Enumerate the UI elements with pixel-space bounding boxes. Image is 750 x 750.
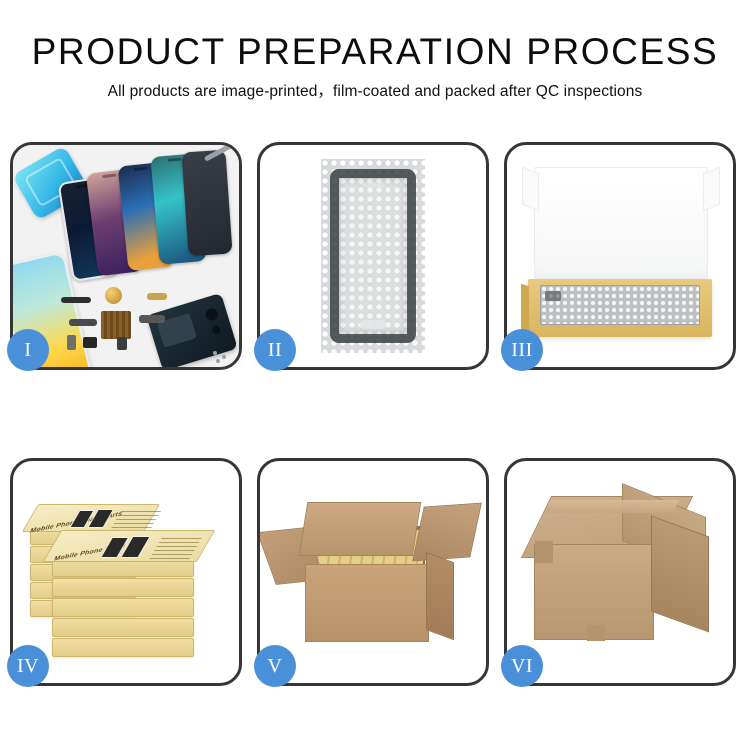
step-panel-3[interactable]: III xyxy=(504,142,736,370)
sealed-carton-group xyxy=(522,492,718,652)
step-badge-5: V xyxy=(254,645,296,687)
step-badge-2: II xyxy=(254,329,296,371)
step-badge-1: I xyxy=(7,329,49,371)
antenna-part-icon xyxy=(147,293,167,300)
step-badge-3: III xyxy=(501,329,543,371)
stacked-box xyxy=(52,638,194,657)
carton-flap-back xyxy=(299,502,422,556)
step-panel-6[interactable]: VI xyxy=(504,458,736,686)
sim-tray-part-icon xyxy=(67,335,76,350)
stacked-box-top: Mobile Phone Spare Parts xyxy=(22,504,160,532)
camera-part-icon xyxy=(83,337,97,348)
page-header: PRODUCT PREPARATION PROCESS All products… xyxy=(0,0,750,103)
home-button-icon xyxy=(360,320,386,329)
step-panel-2[interactable]: II xyxy=(257,142,489,370)
box-lid-icon xyxy=(534,167,708,287)
step-image-4: Mobile Phone Spare Parts Mobile Phone Sp… xyxy=(13,461,239,683)
step-badge-6: VI xyxy=(501,645,543,687)
page-subtitle: All products are image-printed，film-coat… xyxy=(0,81,750,103)
carton-seam-tab xyxy=(535,541,553,563)
packing-tape-icon xyxy=(545,500,679,513)
page-title: PRODUCT PREPARATION PROCESS xyxy=(0,30,750,74)
earpiece-icon xyxy=(362,183,384,187)
phone-notch-icon xyxy=(102,174,116,179)
connector-part-icon xyxy=(69,319,97,326)
stacked-box xyxy=(52,618,194,637)
box-tray-icon xyxy=(528,279,712,337)
phone-fan-group xyxy=(65,151,235,276)
chip-array-part-icon xyxy=(101,311,131,339)
carton-seam-tab xyxy=(587,625,605,641)
step-image-1 xyxy=(13,145,239,367)
open-carton-group xyxy=(273,486,473,658)
screen-glass-icon xyxy=(330,169,416,343)
carton-side-face xyxy=(426,552,454,640)
bubble-wrap-icon xyxy=(321,159,425,353)
carton-front-face xyxy=(305,564,429,642)
connector-part-icon xyxy=(139,315,165,323)
carton-front-face xyxy=(534,544,654,640)
step-panel-4[interactable]: Mobile Phone Spare Parts Mobile Phone Sp… xyxy=(10,458,242,686)
phone-icon-5 xyxy=(181,150,232,257)
carton-side-face xyxy=(651,515,709,632)
step-image-5 xyxy=(260,461,486,683)
carton-flap-right xyxy=(412,503,482,562)
wrapped-screen-icon xyxy=(540,285,700,325)
step-panel-5[interactable]: V xyxy=(257,458,489,686)
step-panel-1[interactable]: I xyxy=(10,142,242,370)
step-image-3 xyxy=(507,145,733,367)
spare-parts-group xyxy=(61,291,191,363)
open-box-group xyxy=(520,163,720,349)
battery-part-icon xyxy=(117,337,127,350)
step-badge-4: IV xyxy=(7,645,49,687)
phone-notch-icon xyxy=(134,167,148,171)
screws-icon xyxy=(213,351,233,363)
step-image-6 xyxy=(507,461,733,683)
stacked-box xyxy=(52,578,194,597)
stacked-box-top: Mobile Phone Spare Parts xyxy=(43,530,215,562)
speaker-part-icon xyxy=(105,287,122,304)
stacked-box xyxy=(52,598,194,617)
box-stack-group: Mobile Phone Spare Parts Mobile Phone Sp… xyxy=(28,484,224,660)
box-spec-lines xyxy=(149,535,203,559)
phone-notch-icon xyxy=(167,158,181,162)
step-image-2 xyxy=(260,145,486,367)
process-step-grid: I II III xyxy=(10,142,740,686)
flex-cable-part-icon xyxy=(61,297,91,303)
